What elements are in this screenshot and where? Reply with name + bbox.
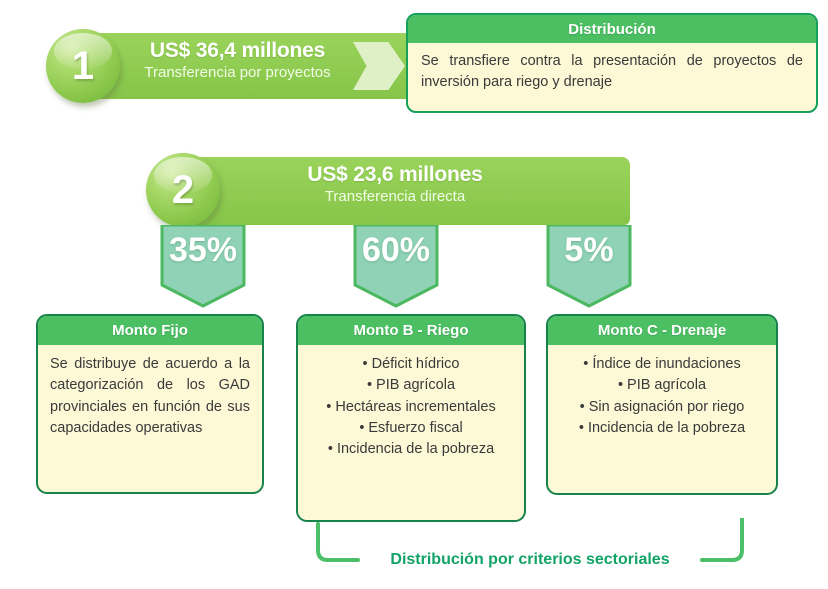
list-item: •Hectáreas incrementales [310, 397, 512, 418]
bullet-icon: • [359, 420, 364, 436]
card-monto-b-riego-body: •Déficit hídrico •PIB agrícola •Hectárea… [298, 345, 524, 471]
distribucion-callout-text: Se transfiere contra la presentación de … [408, 43, 816, 93]
list-item-label: Índice de inundaciones [592, 356, 740, 372]
list-item-label: PIB agrícola [627, 377, 706, 393]
list-item: •Déficit hídrico [310, 354, 512, 375]
step-badge-2-number: 2 [146, 153, 220, 227]
transfer-bar-1-text: US$ 36,4 millones Transferencia por proy… [125, 40, 350, 81]
list-item: •PIB agrícola [560, 375, 764, 396]
card-monto-c-drenaje: Monto C - Drenaje •Índice de inundacione… [546, 314, 778, 495]
card-monto-fijo-text: Se distribuye de acuerdo a la categoriza… [38, 345, 262, 449]
list-item-label: Esfuerzo fiscal [368, 420, 462, 436]
bottom-connector-bracket [300, 518, 760, 580]
card-monto-b-riego: Monto B - Riego •Déficit hídrico •PIB ag… [296, 314, 526, 522]
bullet-icon: • [367, 377, 372, 393]
card-monto-fijo: Monto Fijo Se distribuye de acuerdo a la… [36, 314, 264, 494]
transfer-subtitle-2: Transferencia directa [225, 189, 565, 205]
list-item-label: PIB agrícola [376, 377, 455, 393]
list-item: •Índice de inundaciones [560, 354, 764, 375]
step-badge-1-number: 1 [46, 29, 120, 103]
list-item: •Esfuerzo fiscal [310, 418, 512, 439]
bullet-icon: • [579, 420, 584, 436]
percentage-pennant-5: 5% [546, 225, 632, 309]
percentage-pennant-60: 60% [353, 225, 439, 309]
percentage-label-5: 5% [546, 231, 632, 270]
bullet-icon: • [363, 356, 368, 372]
card-monto-fijo-title: Monto Fijo [38, 316, 262, 345]
transfer-amount-2: US$ 23,6 millones [225, 164, 565, 186]
bottom-caption: Distribución por criterios sectoriales [365, 551, 695, 569]
infographic-canvas: US$ 36,4 millones Transferencia por proy… [0, 0, 828, 589]
percentage-pennant-35: 35% [160, 225, 246, 309]
bullet-icon: • [583, 356, 588, 372]
list-item-label: Incidencia de la pobreza [337, 441, 494, 457]
criteria-list-drenaje: •Índice de inundaciones •PIB agrícola •S… [560, 354, 764, 439]
distribucion-callout: Distribución Se transfiere contra la pre… [406, 13, 818, 113]
card-monto-b-riego-title: Monto B - Riego [298, 316, 524, 345]
transfer-bar-2-text: US$ 23,6 millones Transferencia directa [225, 164, 565, 205]
transfer-amount-1: US$ 36,4 millones [125, 40, 350, 62]
distribucion-callout-title: Distribución [408, 15, 816, 43]
list-item: •Sin asignación por riego [560, 397, 764, 418]
bullet-icon: • [328, 441, 333, 457]
transfer-subtitle-1: Transferencia por proyectos [125, 65, 350, 81]
step-badge-2: 2 [146, 153, 220, 227]
list-item-label: Sin asignación por riego [589, 399, 745, 415]
list-item-label: Hectáreas incrementales [335, 399, 495, 415]
list-item-label: Déficit hídrico [372, 356, 460, 372]
list-item: •Incidencia de la pobreza [560, 418, 764, 439]
percentage-label-60: 60% [353, 231, 439, 270]
percentage-label-35: 35% [160, 231, 246, 270]
list-item: •Incidencia de la pobreza [310, 439, 512, 460]
bullet-icon: • [580, 399, 585, 415]
bullet-icon: • [326, 399, 331, 415]
criteria-list-riego: •Déficit hídrico •PIB agrícola •Hectárea… [310, 354, 512, 461]
card-monto-c-drenaje-title: Monto C - Drenaje [548, 316, 776, 345]
bullet-icon: • [618, 377, 623, 393]
step-badge-1: 1 [46, 29, 120, 103]
card-monto-c-drenaje-body: •Índice de inundaciones •PIB agrícola •S… [548, 345, 776, 449]
list-item-label: Incidencia de la pobreza [588, 420, 745, 436]
list-item: •PIB agrícola [310, 375, 512, 396]
